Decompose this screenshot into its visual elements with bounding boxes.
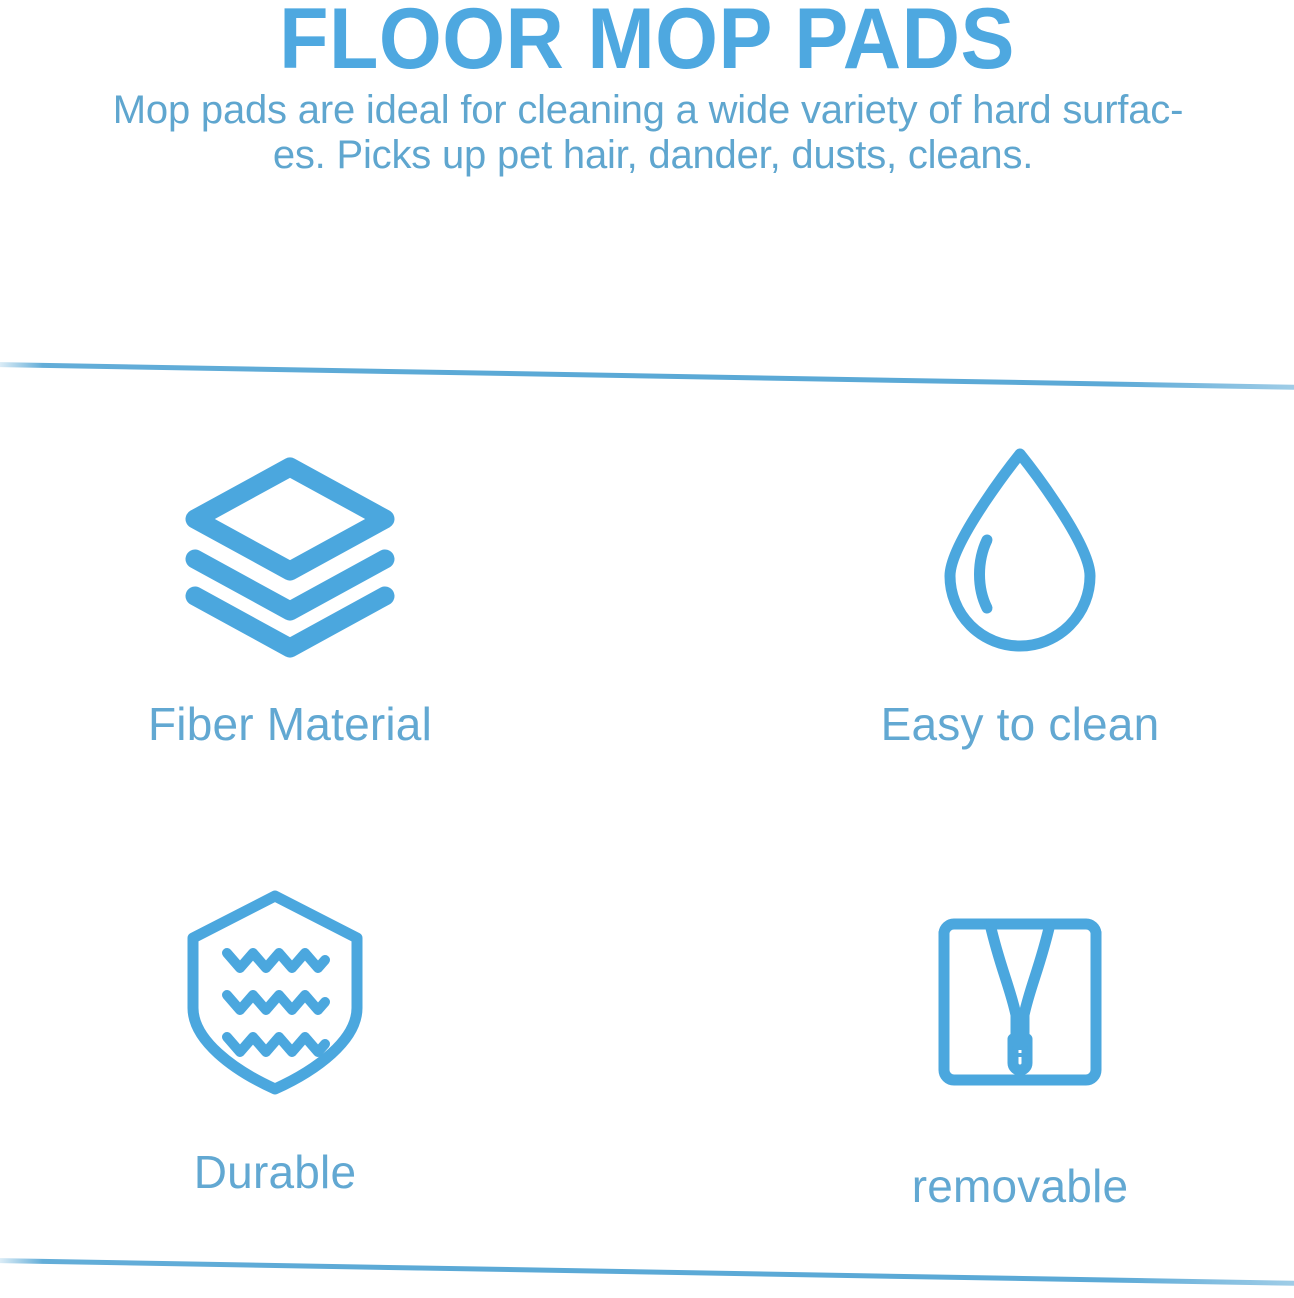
zipper-icon xyxy=(924,915,1116,1091)
feature-removable: removable xyxy=(790,915,1250,1213)
feature-fiber-material: Fiber Material xyxy=(60,455,520,751)
feature-grid: Fiber Material Easy to clean xyxy=(0,400,1294,1240)
feature-label-easy-to-clean: Easy to clean xyxy=(790,697,1250,751)
header: FLOOR MOP PADS Mop pads are ideal for cl… xyxy=(0,0,1294,200)
feature-easy-to-clean: Easy to clean xyxy=(790,445,1250,751)
feature-durable: Durable xyxy=(45,890,505,1199)
subtitle-line-1: Mop pads are ideal for cleaning a wide v… xyxy=(12,88,1284,133)
layers-icon xyxy=(178,455,402,655)
feature-label-removable: removable xyxy=(790,1159,1250,1213)
feature-label-durable: Durable xyxy=(45,1145,505,1199)
shield-waves-icon xyxy=(185,890,365,1095)
subtitle-line-2: es. Picks up pet hair, dander, dusts, cl… xyxy=(12,133,1284,178)
page-title: FLOOR MOP PADS xyxy=(39,0,1255,84)
feature-label-fiber-material: Fiber Material xyxy=(60,697,520,751)
product-infographic: FLOOR MOP PADS Mop pads are ideal for cl… xyxy=(0,0,1294,1298)
divider-bottom xyxy=(0,1258,1294,1286)
divider-top xyxy=(0,362,1294,390)
water-drop-icon xyxy=(944,445,1096,645)
subtitle: Mop pads are ideal for cleaning a wide v… xyxy=(12,88,1284,178)
